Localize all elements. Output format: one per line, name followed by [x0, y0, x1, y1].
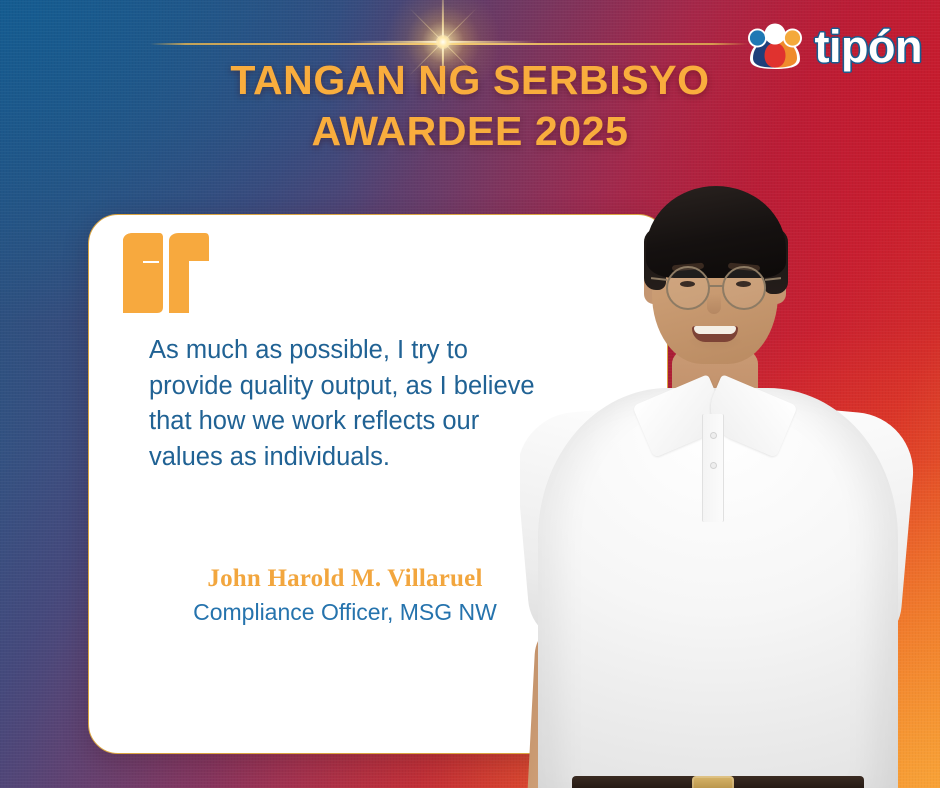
portrait-hair: [646, 186, 786, 278]
page-title: TANGAN NG SERBISYO AWARDEE 2025: [0, 55, 940, 157]
awardee-portrait: [520, 150, 940, 788]
portrait-glasses-bridge: [709, 285, 723, 287]
portrait-button-bottom: [710, 462, 717, 469]
portrait-nose: [707, 294, 721, 314]
double-quote-icon: [121, 233, 211, 315]
quote-text: As much as possible, I try to provide qu…: [149, 333, 549, 475]
tipon-people-logo-icon: [744, 22, 806, 70]
portrait-eyeglass-right: [722, 266, 766, 310]
portrait-eyeglass-left: [666, 266, 710, 310]
star-core: [436, 35, 450, 49]
brand-logo[interactable]: tipón: [744, 22, 922, 70]
portrait-teeth: [694, 326, 736, 334]
portrait-button-top: [710, 432, 717, 439]
logo-wordmark: tipón: [815, 24, 922, 69]
award-poster: TANGAN NG SERBISYO AWARDEE 2025 tipón As: [0, 0, 940, 788]
title-line-1: TANGAN NG SERBISYO: [230, 57, 709, 103]
